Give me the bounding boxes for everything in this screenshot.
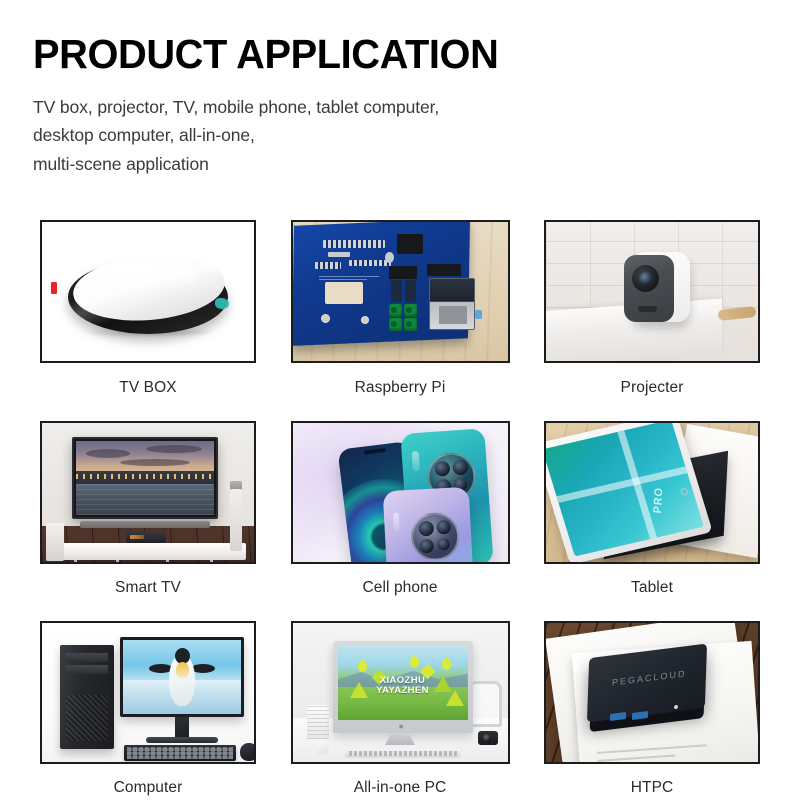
thumb-wrap-all-in-one-pc: XIAOZHU YAYAZHEN ● bbox=[285, 619, 515, 766]
grid-item-htpc: PEGACLOUD HTPC bbox=[537, 619, 767, 800]
pi-terminal-block-2 bbox=[404, 304, 417, 317]
art-tv-box bbox=[42, 222, 254, 361]
caption-computer: Computer bbox=[33, 766, 263, 800]
computer-penguin-wing-right bbox=[191, 664, 215, 673]
art-projector bbox=[546, 222, 758, 361]
all-in-one-keyboard[interactable] bbox=[345, 749, 461, 758]
all-in-one-pen-cup bbox=[307, 705, 329, 739]
all-in-one-screen-text: XIAOZHU YAYAZHEN bbox=[338, 676, 468, 697]
thumb-wrap-smart-tv bbox=[33, 419, 263, 566]
thumb-wrap-tv-box bbox=[33, 218, 263, 365]
computer-monitor-base bbox=[146, 737, 218, 743]
pi-ic-chip bbox=[427, 264, 461, 276]
caption-raspberry-pi: Raspberry Pi bbox=[285, 365, 515, 419]
caption-projector: Projecter bbox=[537, 365, 767, 419]
pi-relay-1 bbox=[391, 280, 402, 302]
thumb-wrap-computer bbox=[33, 619, 263, 766]
caption-all-in-one-pc: All-in-one PC bbox=[285, 766, 515, 800]
grid-item-projector: Projecter bbox=[537, 218, 767, 419]
computer-monitor bbox=[120, 637, 244, 717]
all-in-one-chin: ● bbox=[333, 720, 473, 733]
subtitle-line-2: desktop computer, all-in-one, bbox=[33, 121, 800, 149]
computer-tower bbox=[60, 645, 114, 749]
pi-terminal-block-1 bbox=[389, 304, 402, 317]
tablet-screen: PRO bbox=[544, 421, 704, 556]
smart-tv-console-leg-2 bbox=[116, 560, 119, 564]
all-in-one-screen: XIAOZHU YAYAZHEN bbox=[338, 646, 468, 720]
computer-penguin-chest bbox=[176, 662, 189, 678]
computer-drive-bay-1 bbox=[66, 653, 108, 662]
caption-htpc: HTPC bbox=[537, 766, 767, 800]
computer-drive-bay-2 bbox=[66, 665, 108, 674]
pi-resistor-bank bbox=[328, 252, 350, 257]
computer-monitor-neck bbox=[175, 717, 189, 737]
image-frame-all-in-one-pc: XIAOZHU YAYAZHEN ● bbox=[291, 621, 510, 764]
art-raspberry-pi bbox=[293, 222, 508, 361]
caption-tv-box: TV BOX bbox=[33, 365, 263, 419]
tv-box-teal-accent bbox=[215, 298, 229, 309]
htpc-paper-line-3 bbox=[597, 744, 707, 753]
smart-tv-set-top-box bbox=[126, 531, 166, 543]
pi-board-cutout bbox=[325, 282, 363, 304]
smart-tv-subwoofer bbox=[46, 523, 64, 561]
art-all-in-one-pc: XIAOZHU YAYAZHEN ● bbox=[293, 623, 508, 762]
application-grid: TV BOX bbox=[33, 218, 767, 800]
art-cell-phone bbox=[293, 423, 508, 562]
smart-tv-console-leg-3 bbox=[166, 560, 169, 564]
art-smart-tv bbox=[42, 423, 254, 562]
pi-pin-header-top bbox=[323, 240, 385, 248]
thumb-wrap-projector bbox=[537, 218, 767, 365]
smart-tv-water bbox=[76, 484, 214, 515]
smart-tv-city-lights bbox=[76, 474, 214, 479]
grid-item-cell-phone: Cell phone bbox=[285, 419, 515, 619]
pi-pin-header-mid bbox=[349, 260, 391, 266]
smart-tv-console-leg-1 bbox=[74, 560, 77, 564]
cell-phone-purple-back bbox=[382, 487, 473, 564]
thumb-wrap-raspberry-pi bbox=[285, 218, 515, 365]
cell-phone-lens-purple-2 bbox=[436, 520, 451, 535]
tv-box-highlight bbox=[94, 262, 198, 292]
htpc-paper-line-4 bbox=[597, 754, 675, 761]
smart-tv-panel bbox=[72, 437, 218, 519]
image-frame-tablet: PRO bbox=[544, 421, 760, 564]
computer-front-mesh bbox=[66, 695, 108, 741]
cell-phone-earpiece bbox=[363, 448, 385, 455]
cell-phone-camera-ring-purple bbox=[409, 511, 459, 561]
image-frame-cell-phone bbox=[291, 421, 510, 564]
tablet-screen-logo: PRO bbox=[652, 486, 666, 514]
cell-phone-lens-purple-4 bbox=[437, 538, 450, 551]
smart-tv-cloud-2 bbox=[146, 445, 202, 453]
pi-relay-2 bbox=[405, 280, 416, 302]
smart-tv-cloud-3 bbox=[120, 459, 190, 466]
pi-terminal-block-4 bbox=[404, 318, 417, 331]
cell-phone-flash-teal bbox=[411, 451, 419, 471]
apple-logo-icon: ● bbox=[399, 722, 407, 731]
pi-led-indicator bbox=[475, 310, 482, 319]
smart-tv-soundbar bbox=[80, 521, 210, 528]
thumb-wrap-tablet: PRO bbox=[537, 419, 767, 566]
pi-mount-hole-left bbox=[321, 314, 330, 323]
page-title: PRODUCT APPLICATION bbox=[33, 34, 777, 75]
smart-tv-console-leg-4 bbox=[210, 560, 213, 564]
pi-terminal-block-3 bbox=[389, 318, 402, 331]
pi-pin-header-left bbox=[315, 262, 341, 269]
projector-sensor-strip bbox=[638, 306, 657, 312]
projector-lens-icon bbox=[639, 272, 652, 285]
pi-small-chip bbox=[389, 266, 417, 279]
pi-trace-2 bbox=[319, 279, 367, 280]
cell-phone-lens-purple-1 bbox=[418, 521, 434, 537]
art-tablet: PRO bbox=[546, 423, 758, 562]
thumb-wrap-cell-phone bbox=[285, 419, 515, 566]
smart-tv-cloud-1 bbox=[86, 449, 130, 458]
grid-item-tv-box: TV BOX bbox=[33, 218, 263, 419]
cell-phone-flash-purple bbox=[392, 512, 399, 530]
grid-item-all-in-one-pc: XIAOZHU YAYAZHEN ● bbox=[285, 619, 515, 800]
image-frame-computer bbox=[40, 621, 256, 764]
art-htpc: PEGACLOUD bbox=[546, 623, 758, 762]
smart-tv-screen bbox=[76, 441, 214, 515]
subtitle-line-1: TV box, projector, TV, mobile phone, tab… bbox=[33, 93, 800, 121]
image-frame-htpc: PEGACLOUD bbox=[544, 621, 760, 764]
cell-phone-lens-purple-3 bbox=[419, 539, 434, 554]
all-in-one-shape-balloon-3 bbox=[442, 658, 451, 670]
pi-capacitor bbox=[385, 252, 394, 263]
grid-item-tablet: PRO Tablet bbox=[537, 419, 767, 619]
pi-main-chip bbox=[397, 234, 423, 254]
computer-keyboard[interactable] bbox=[124, 745, 236, 761]
all-in-one-screen-text-line2: YAYAZHEN bbox=[338, 686, 468, 697]
tablet-wallpaper-stripe-h bbox=[557, 467, 688, 503]
pi-trace-1 bbox=[319, 276, 379, 277]
caption-tablet: Tablet bbox=[537, 566, 767, 619]
grid-item-smart-tv: Smart TV bbox=[33, 419, 263, 619]
subtitle-line-3: multi-scene application bbox=[33, 150, 800, 178]
grid-item-computer: Computer bbox=[33, 619, 263, 800]
product-application-page: PRODUCT APPLICATION TV box, projector, T… bbox=[0, 0, 800, 800]
all-in-one-shape-balloon-2 bbox=[410, 656, 419, 668]
page-header: PRODUCT APPLICATION TV box, projector, T… bbox=[0, 0, 800, 178]
smart-tv-floor-speaker bbox=[230, 489, 242, 551]
page-subtitle: TV box, projector, TV, mobile phone, tab… bbox=[33, 93, 800, 178]
all-in-one-camera bbox=[478, 731, 498, 745]
image-frame-raspberry-pi bbox=[291, 220, 510, 363]
image-frame-smart-tv bbox=[40, 421, 256, 564]
caption-cell-phone: Cell phone bbox=[285, 566, 515, 619]
all-in-one-shape-balloon-1 bbox=[358, 660, 367, 672]
pi-mount-hole-right bbox=[361, 316, 369, 324]
grid-item-raspberry-pi: Raspberry Pi bbox=[285, 218, 515, 419]
computer-mouse[interactable] bbox=[240, 743, 256, 761]
thumb-wrap-htpc: PEGACLOUD bbox=[537, 619, 767, 766]
art-computer bbox=[42, 623, 254, 762]
smart-tv-console bbox=[56, 543, 246, 560]
all-in-one-desk-object bbox=[315, 741, 329, 755]
all-in-one-display-body: XIAOZHU YAYAZHEN ● bbox=[333, 641, 473, 733]
tv-box-led-icon bbox=[51, 282, 57, 294]
computer-screen bbox=[123, 640, 241, 714]
image-frame-projector bbox=[544, 220, 760, 363]
all-in-one-chair bbox=[468, 681, 502, 727]
image-frame-tv-box bbox=[40, 220, 256, 363]
computer-keyboard-keys bbox=[127, 747, 233, 759]
caption-smart-tv: Smart TV bbox=[33, 566, 263, 619]
pi-ethernet-contact bbox=[439, 306, 467, 324]
